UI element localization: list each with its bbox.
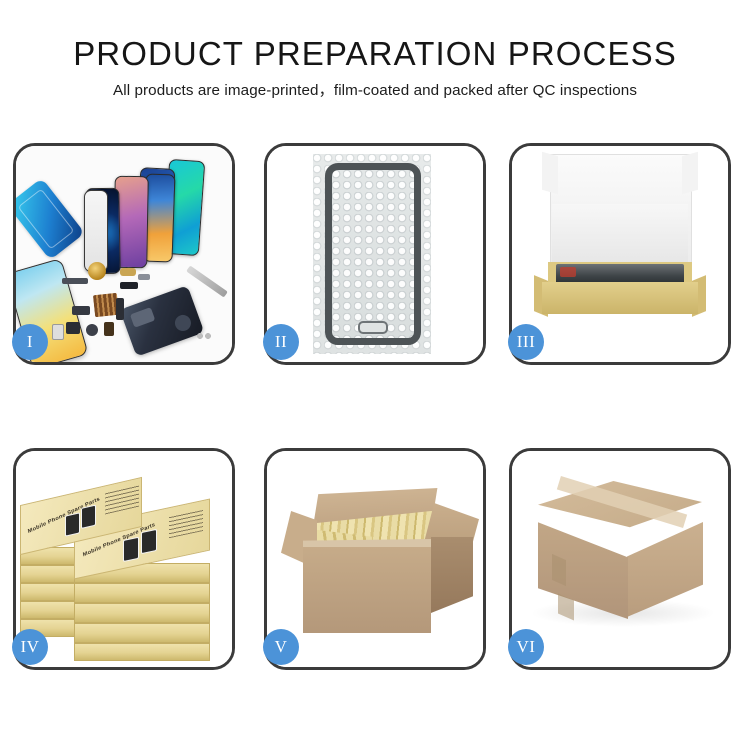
box-front-icon — [542, 282, 698, 314]
page-title: PRODUCT PREPARATION PROCESS — [0, 34, 750, 74]
box-lid-right-flap-icon — [682, 152, 698, 195]
stacked-box — [74, 603, 210, 623]
wrapped-screen-icon — [325, 163, 421, 345]
step-badge-3: III — [508, 324, 544, 360]
product-preparation-page: PRODUCT PREPARATION PROCESS All products… — [0, 0, 750, 750]
blue-screen-flex-icon — [16, 178, 85, 260]
speaker-part-icon — [66, 322, 80, 334]
step-panel-5: V — [264, 448, 486, 670]
step-badge-5: V — [263, 629, 299, 665]
sealed-carton-illustration — [512, 451, 728, 667]
carton-body-icon — [303, 547, 431, 633]
step-4-image: Mobile Phone Spare Parts Mobile Phone Sp… — [16, 451, 232, 667]
stacked-box — [74, 643, 210, 661]
vertical-flex-part-icon — [116, 298, 124, 320]
box-stack: Mobile Phone Spare Parts Mobile Phone Sp… — [16, 451, 232, 667]
tweezers-icon — [186, 265, 228, 297]
sim-tray-part-icon — [52, 324, 64, 340]
box-spec-lines — [169, 509, 203, 538]
boxes-in-open-carton-illustration — [267, 451, 483, 667]
step-panel-3: III — [509, 143, 731, 365]
box-phone-photo — [65, 512, 80, 536]
foam-liner-icon — [552, 204, 688, 266]
step-badge-2: II — [263, 324, 299, 360]
round-button-part-icon — [86, 324, 98, 336]
step-panel-1: I — [13, 143, 235, 365]
box-lid-left-flap-icon — [542, 152, 558, 195]
process-steps-grid: I II — [13, 143, 737, 673]
flex-cable-part-icon — [62, 278, 88, 284]
step-badge-6: VI — [508, 629, 544, 665]
phone-screens-and-parts-illustration — [16, 146, 232, 362]
box-phone-photo — [123, 537, 139, 562]
camera-module-part-icon — [72, 306, 90, 315]
step-6-image — [512, 451, 728, 667]
step-panel-2: II — [264, 143, 486, 365]
bubble-wrapped-screen-illustration — [267, 146, 483, 362]
stacked-kraft-boxes-illustration: Mobile Phone Spare Parts Mobile Phone Sp… — [16, 451, 232, 667]
carton-side-icon — [431, 537, 473, 613]
step-badge-4: IV — [12, 629, 48, 665]
small-metal-part-icon — [138, 274, 150, 280]
step-3-image — [512, 146, 728, 362]
phone-housing-icon — [120, 285, 205, 357]
screen-in-open-kraft-box-illustration — [512, 146, 728, 362]
step-panel-6: VI — [509, 448, 731, 670]
battery-connector-part-icon — [104, 322, 114, 336]
step-5-image — [267, 451, 483, 667]
step-badge-1: I — [12, 324, 48, 360]
packed-screen-icon — [556, 264, 684, 284]
screws-icon — [196, 332, 212, 340]
white-screen-icon — [84, 190, 108, 272]
stacked-box — [74, 623, 210, 643]
box-phone-photo — [141, 529, 157, 554]
box-spec-lines — [105, 485, 139, 515]
step-panel-4: Mobile Phone Spare Parts Mobile Phone Sp… — [13, 448, 235, 670]
header: PRODUCT PREPARATION PROCESS All products… — [0, 34, 750, 101]
page-subtitle: All products are image-printed，film-coat… — [0, 81, 750, 101]
stacked-box — [74, 583, 210, 603]
gold-coil-part-icon — [88, 262, 106, 280]
ribbon-part-icon — [120, 282, 138, 289]
box-phone-photo — [81, 505, 96, 529]
step-1-image — [16, 146, 232, 362]
gold-connector-part-icon — [120, 268, 136, 276]
step-2-image — [267, 146, 483, 362]
